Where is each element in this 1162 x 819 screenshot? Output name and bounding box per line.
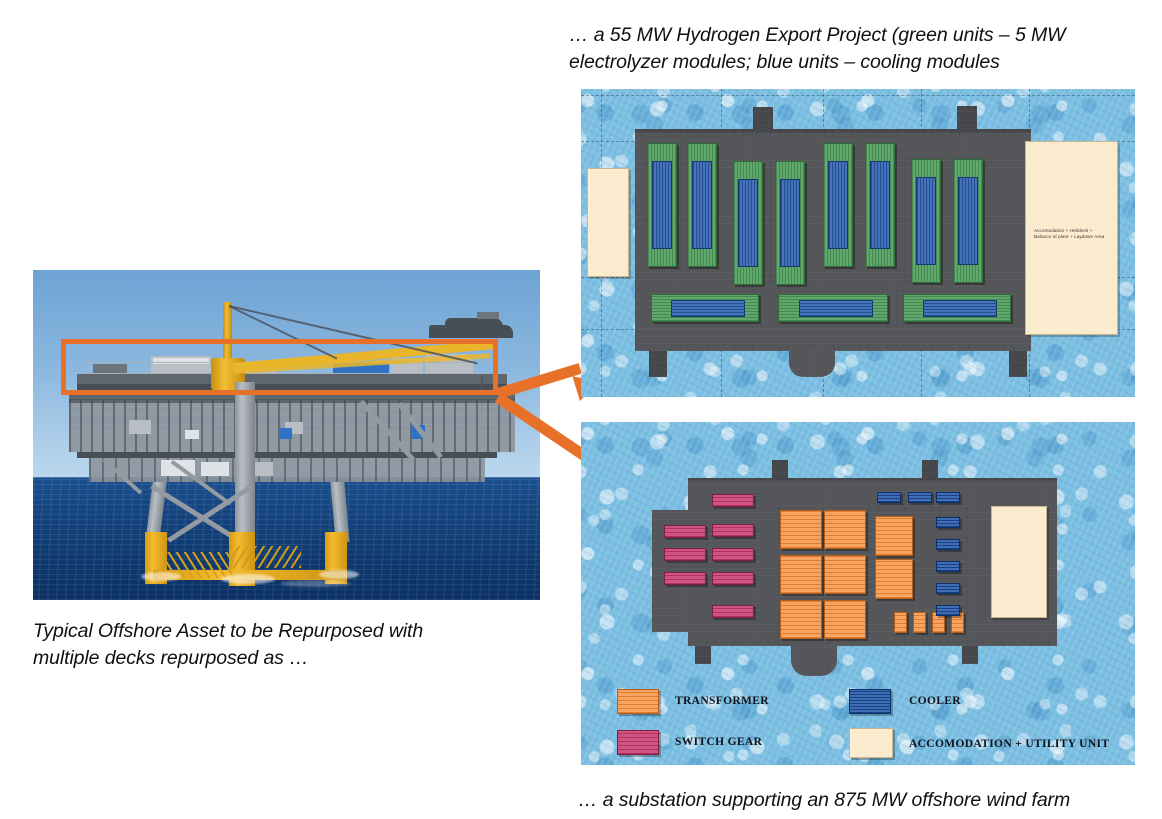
legend-swatch-cooler <box>849 689 891 714</box>
deck-leg <box>649 351 667 377</box>
photo-caption-line-2: multiple decks repurposed as … <box>33 645 533 672</box>
platform-structure <box>33 270 540 600</box>
switch-gear-unit <box>664 525 706 538</box>
switch-gear-unit <box>712 524 754 537</box>
deck-edge-shadow <box>635 129 1031 133</box>
transformer-unit <box>875 516 913 556</box>
transformer-unit <box>780 555 822 594</box>
deck-skirt <box>635 329 1031 351</box>
deck-leg <box>695 646 711 664</box>
legend-label-cooler: COOLER <box>909 695 961 707</box>
transformer-unit <box>824 510 866 549</box>
transformer-unit <box>824 555 866 594</box>
accommodation-label-line-2: Balance of plant + Laydown Area <box>1034 234 1104 240</box>
transformer-unit <box>824 600 866 639</box>
substation-caption-line-1: … a substation supporting an 875 MW offs… <box>578 787 1162 814</box>
switch-gear-unit <box>712 494 754 507</box>
cooler-unit <box>908 492 932 503</box>
photo-caption: Typical Offshore Asset to be Repurposed … <box>33 618 533 672</box>
cooler-unit <box>936 517 960 528</box>
deck-nose <box>789 351 835 377</box>
deck-stack <box>922 460 938 480</box>
legend-label-accommodation: ACCOMODATION + UTILITY UNIT <box>909 738 1109 750</box>
switch-gear-unit <box>664 572 706 585</box>
transformer-unit <box>780 600 822 639</box>
deck-stack <box>772 460 788 480</box>
cooler-unit <box>936 561 960 572</box>
cooler-unit <box>936 492 960 503</box>
deck-highlight-rectangle <box>61 339 498 395</box>
cooling-module <box>671 300 745 317</box>
cooling-module <box>652 161 672 249</box>
grid-line <box>581 95 1135 96</box>
cooling-module <box>870 161 890 249</box>
deck-extension-lower-left <box>652 598 682 616</box>
cooling-module <box>923 300 997 317</box>
switch-gear-unit <box>664 548 706 561</box>
photo-caption-line-1: Typical Offshore Asset to be Repurposed … <box>33 618 533 645</box>
cooling-module <box>958 177 978 265</box>
legend-swatch-transformer <box>617 689 659 714</box>
offshore-substation-diagram: TRANSFORMER COOLER SWITCH GEAR ACCOMODAT… <box>581 422 1135 765</box>
legend: TRANSFORMER COOLER SWITCH GEAR ACCOMODAT… <box>581 680 1135 765</box>
cooler-unit <box>936 605 960 616</box>
cooling-module <box>916 177 936 265</box>
photo-content <box>33 270 540 600</box>
switch-gear-unit <box>712 572 754 585</box>
legend-swatch-switch-gear <box>617 730 659 755</box>
west-accommodation-block <box>587 168 629 277</box>
deck-edge-shadow <box>688 478 1057 481</box>
legend-label-switch-gear: SWITCH GEAR <box>675 736 762 748</box>
hydrogen-caption-line-2: electrolyzer modules; blue units – cooli… <box>569 49 1145 76</box>
transformer-unit <box>875 559 913 599</box>
legend-swatch-accommodation <box>849 728 893 758</box>
cooling-module <box>692 161 712 249</box>
accommodation-utility-block <box>991 506 1047 618</box>
deck-leg <box>962 646 978 664</box>
hydrogen-caption: … a 55 MW Hydrogen Export Project (green… <box>569 22 1145 76</box>
cooler-unit <box>877 492 901 503</box>
switch-gear-unit <box>712 548 754 561</box>
accommodation-helideck-block: Accomodation + Helideck + Balance of pla… <box>1025 141 1118 335</box>
cooling-module <box>828 161 848 249</box>
cooler-unit <box>936 539 960 550</box>
substation-caption: … a substation supporting an 875 MW offs… <box>578 787 1162 814</box>
deck-leg <box>1009 351 1027 377</box>
deck-nose <box>791 646 837 676</box>
offshore-platform-photo <box>33 270 540 600</box>
hydrogen-caption-line-1: … a 55 MW Hydrogen Export Project (green… <box>569 22 1145 49</box>
deck-skirt-substation <box>688 634 1057 646</box>
cooling-module <box>799 300 873 317</box>
hydrogen-export-project-diagram: Accomodation + Helideck + Balance of pla… <box>581 89 1135 397</box>
cooling-module <box>738 179 758 267</box>
transformer-unit <box>780 510 822 549</box>
transformer-unit-small <box>913 612 926 633</box>
cooling-module <box>780 179 800 267</box>
cooler-unit <box>936 583 960 594</box>
switch-gear-unit <box>712 605 754 618</box>
legend-label-transformer: TRANSFORMER <box>675 695 769 707</box>
slide-canvas: Typical Offshore Asset to be Repurposed … <box>0 0 1162 819</box>
transformer-unit-small <box>894 612 907 633</box>
accommodation-label: Accomodation + Helideck + Balance of pla… <box>1034 228 1104 240</box>
